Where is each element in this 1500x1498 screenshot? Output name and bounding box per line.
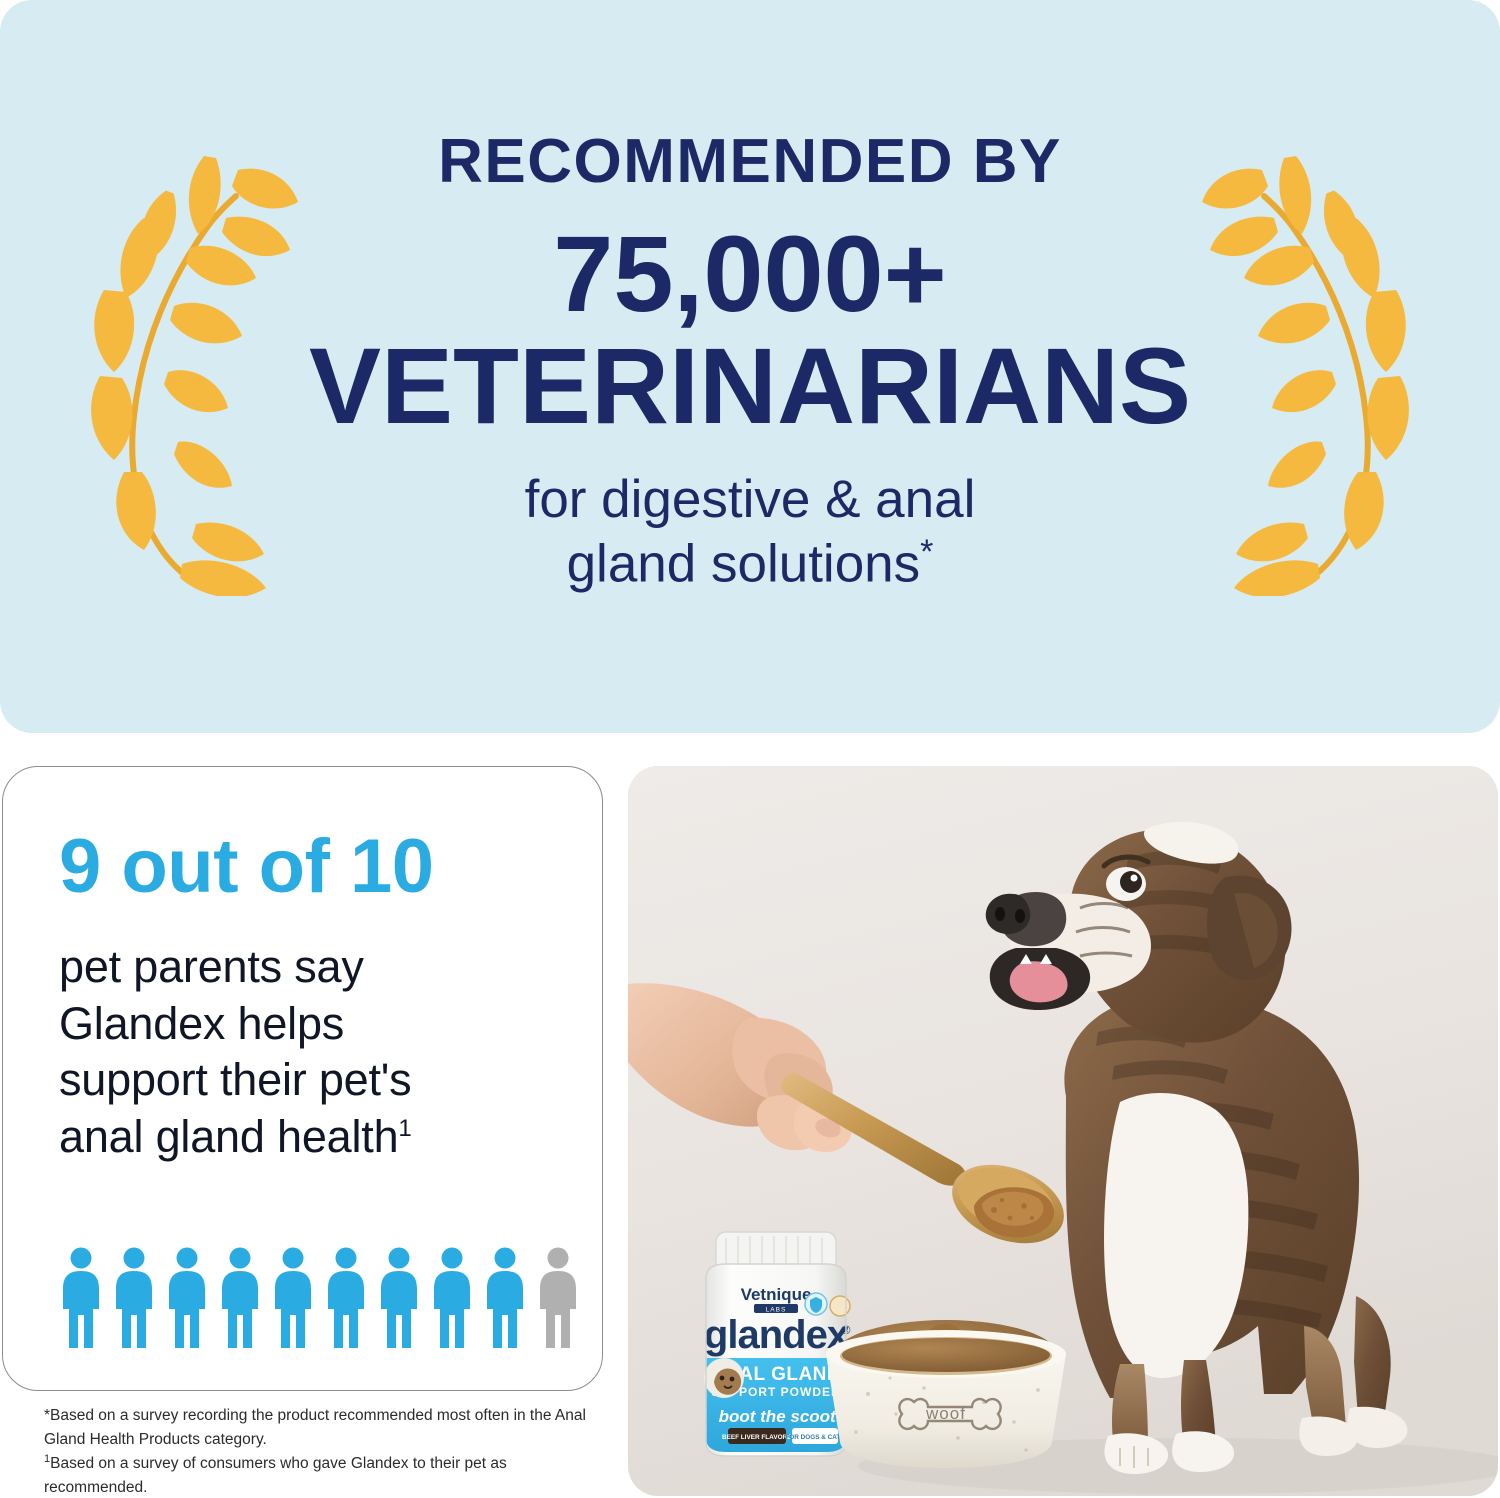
person-icon bbox=[165, 1247, 209, 1352]
person-icon bbox=[271, 1247, 315, 1352]
stat-body-line4: anal gland health bbox=[59, 1111, 398, 1162]
bottle-badge-species: FOR DOGS & CATS bbox=[785, 1434, 845, 1441]
dog-food-bowl: woof bbox=[826, 1320, 1066, 1468]
infographic-page: RECOMMENDED BY 75,000+ VETERINARIANS for… bbox=[0, 0, 1500, 1498]
recommended-banner: RECOMMENDED BY 75,000+ VETERINARIANS for… bbox=[0, 0, 1500, 733]
headline-vet-count: 75,000+ bbox=[290, 220, 1210, 328]
product-lifestyle-photo: Vetnique LABS glandex ® ANAL GLAND SUPPO… bbox=[628, 766, 1498, 1496]
footnote-asterisk-line2: Gland Health Products category. bbox=[44, 1428, 604, 1452]
bottle-brand-name: Vetnique bbox=[741, 1285, 812, 1304]
person-icon bbox=[430, 1247, 474, 1352]
footnote-one: 1Based on a survey of consumers who gave… bbox=[44, 1451, 604, 1498]
stat-body-line2: Glandex helps bbox=[59, 998, 344, 1049]
headline-veterinarians: VETERINARIANS bbox=[290, 332, 1210, 440]
bowl-engraving-text: woof bbox=[925, 1404, 966, 1423]
banner-text-block: RECOMMENDED BY 75,000+ VETERINARIANS for… bbox=[290, 129, 1210, 596]
stat-body-footnote-marker: 1 bbox=[398, 1115, 411, 1142]
people-pictogram-row bbox=[59, 1247, 580, 1352]
headline-recommended-by: RECOMMENDED BY bbox=[290, 129, 1210, 194]
photo-illustration: Vetnique LABS glandex ® ANAL GLAND SUPPO… bbox=[628, 766, 1498, 1496]
bottle-product-name: glandex bbox=[704, 1313, 849, 1357]
person-icon bbox=[112, 1247, 156, 1352]
person-icon bbox=[483, 1247, 527, 1352]
stat-body-text: pet parents say Glandex helps support th… bbox=[59, 939, 560, 1166]
person-icon bbox=[59, 1247, 103, 1352]
banner-subhead-line1: for digestive & anal bbox=[525, 470, 976, 529]
footnotes-block: *Based on a survey recording the product… bbox=[44, 1404, 604, 1498]
banner-subhead-asterisk: * bbox=[920, 533, 933, 571]
footnote-asterisk-line1: *Based on a survey recording the product… bbox=[44, 1404, 604, 1428]
stat-body-line1: pet parents say bbox=[59, 941, 364, 992]
stat-body-line3: support their pet's bbox=[59, 1054, 412, 1105]
banner-subhead-line2: gland solutions bbox=[567, 534, 921, 593]
person-icon bbox=[324, 1247, 368, 1352]
banner-subhead: for digestive & anal gland solutions* bbox=[290, 468, 1210, 596]
pet-parent-stat-card: 9 out of 10 pet parents say Glandex help… bbox=[2, 766, 603, 1391]
person-icon-inactive bbox=[536, 1247, 580, 1352]
bottle-tagline: boot the scoot! bbox=[719, 1407, 842, 1426]
glandex-bottle: Vetnique LABS glandex ® ANAL GLAND SUPPO… bbox=[704, 1232, 851, 1456]
stat-headline-9-out-of-10: 9 out of 10 bbox=[59, 829, 560, 905]
footnote-one-text: Based on a survey of consumers who gave … bbox=[44, 1455, 507, 1496]
person-icon bbox=[377, 1247, 421, 1352]
person-icon bbox=[218, 1247, 262, 1352]
